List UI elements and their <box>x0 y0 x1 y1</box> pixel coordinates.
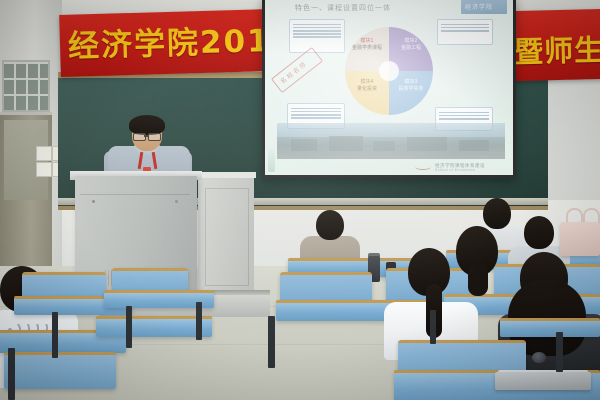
podium-screw <box>92 200 95 203</box>
wall-switch-plate[interactable] <box>36 162 52 177</box>
speaker-hair <box>129 115 165 135</box>
person-head <box>524 216 554 249</box>
projection-screen-frame: 特色一、课程设置四位一体 经济学院 <box>262 0 516 178</box>
person-hair <box>468 262 488 296</box>
wall-switch-plate[interactable] <box>36 146 52 161</box>
glasses-bridge <box>144 135 148 137</box>
desk <box>96 316 212 334</box>
banner-right-text: 暨师生 <box>514 27 600 71</box>
desk-leg <box>196 302 202 340</box>
projection-screen: 特色一、课程设置四位一体 经济学院 <box>265 0 513 175</box>
desk-leg <box>430 310 436 344</box>
window-grille <box>2 60 50 112</box>
banner-left-text: 经济学院201 <box>67 15 273 66</box>
seat-back[interactable] <box>4 352 116 389</box>
desk-leg <box>268 316 275 368</box>
desk-leg <box>556 332 563 372</box>
podium-seam <box>80 194 190 195</box>
desk <box>500 318 600 334</box>
handbag <box>560 222 600 256</box>
podium-screw <box>175 200 178 203</box>
person-head <box>316 210 344 240</box>
desk-knob <box>532 352 546 363</box>
desk-leg <box>8 348 15 400</box>
red-banner-right: 暨师生 <box>511 9 600 81</box>
desk-leg <box>126 306 132 348</box>
person-head <box>483 198 511 229</box>
laptop[interactable] <box>495 372 591 390</box>
glasses-icon <box>148 133 161 141</box>
water-bottle <box>268 148 275 172</box>
red-banner-left: 经济学院201 <box>59 9 273 77</box>
screen-glare <box>265 0 513 175</box>
desk-leg <box>52 312 58 358</box>
side-cabinet-top <box>196 172 256 178</box>
lecture-hall-photo: 经济学院201 暨师生 特色一、课程设置四位一体 经济学院 <box>0 0 600 400</box>
side-cabinet-door[interactable] <box>205 188 249 286</box>
